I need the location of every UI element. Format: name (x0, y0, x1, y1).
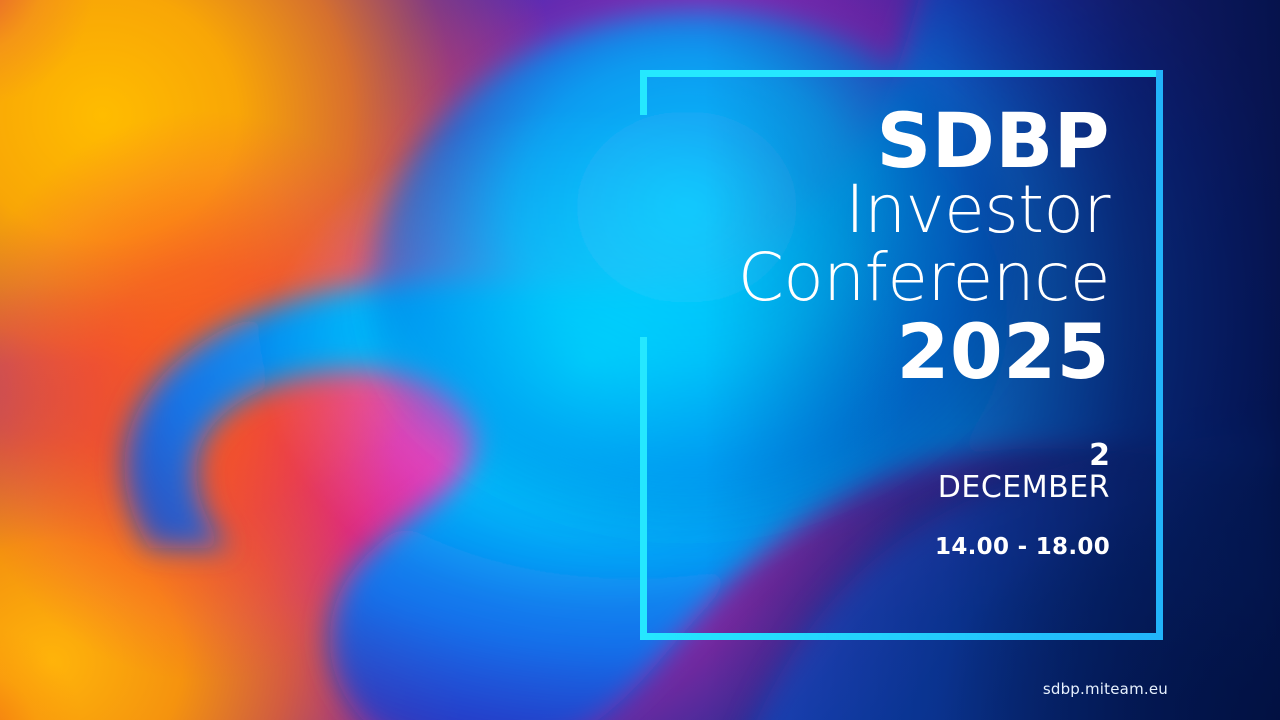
event-poster: SDBP Investor Conference 2025 2 DECEMBER… (0, 0, 1280, 720)
poster-content: SDBP Investor Conference 2025 2 DECEMBER… (660, 70, 1110, 560)
event-month: DECEMBER (660, 471, 1110, 506)
event-title-line-1: Investor (660, 176, 1110, 244)
event-time-range: 14.00 - 18.00 (660, 534, 1110, 560)
event-acronym: SDBP (660, 106, 1110, 176)
event-day: 2 (660, 440, 1110, 472)
event-title-line-2: Conference (660, 244, 1110, 312)
event-website-url[interactable]: sdbp.miteam.eu (1043, 680, 1168, 698)
event-year: 2025 (660, 314, 1110, 390)
event-date-block: 2 DECEMBER 14.00 - 18.00 (660, 440, 1110, 560)
